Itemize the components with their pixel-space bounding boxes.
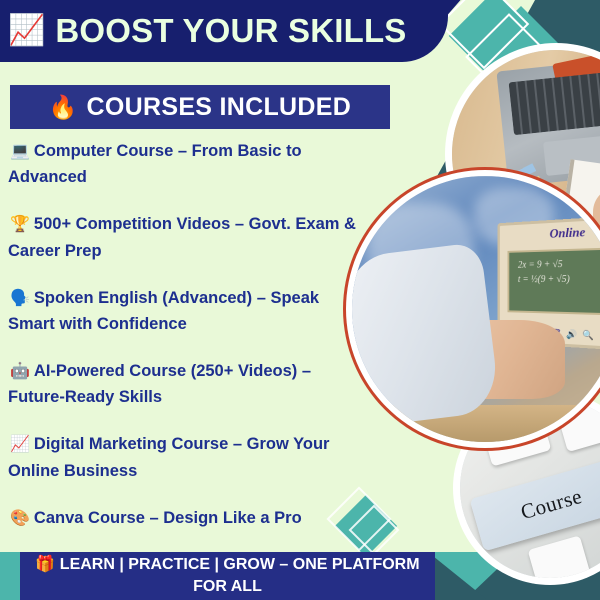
robot-icon: 🤖 — [10, 363, 30, 380]
list-item: 🎨Canva Course – Design Like a Pro — [8, 505, 360, 531]
bottom-tagline-label: LEARN | PRACTICE | GROW – ONE PLATFORM F… — [60, 556, 420, 595]
online-screen-chalkboard: 2x = 9 + √5t = ½(9 + √5) — [508, 246, 600, 316]
search-icon: 🔍 — [583, 329, 594, 341]
page-title: BOOST YOUR SKILLS — [55, 12, 406, 50]
header-banner: 📈 BOOST YOUR SKILLS — [0, 0, 448, 62]
courses-included-label: COURSES INCLUDED — [87, 93, 352, 122]
fire-icon: 🔥 — [49, 96, 78, 119]
list-item: 🤖AI-Powered Course (250+ Videos) – Futur… — [8, 358, 360, 410]
list-item: 🏆500+ Competition Videos – Govt. Exam & … — [8, 211, 360, 263]
list-item-label: Spoken English (Advanced) – Speak Smart … — [8, 289, 319, 333]
list-item-label: Canva Course – Design Like a Pro — [34, 509, 302, 527]
trophy-icon: 🏆 — [10, 216, 30, 233]
bottom-tagline-banner: 🎁 LEARN | PRACTICE | GROW – ONE PLATFORM… — [20, 552, 435, 600]
speaking-head-icon: 🗣️ — [10, 290, 30, 307]
list-item-label: Computer Course – From Basic to Advanced — [8, 142, 302, 186]
courses-included-header: 🔥 COURSES INCLUDED — [10, 85, 390, 129]
chart-increasing-icon: 📈 — [8, 16, 45, 46]
keycap-course-label: Course — [518, 484, 585, 525]
online-class-typing-photo: Online 2x = 9 + √5t = ½(9 + √5) 💬 ✉ 👤 🗑 … — [352, 176, 600, 442]
list-item: 📈Digital Marketing Course – Grow Your On… — [8, 431, 360, 483]
online-screen-title: Online — [500, 220, 600, 243]
online-screen-equations: 2x = 9 + √5t = ½(9 + √5) — [509, 248, 600, 286]
bottom-tagline-text: 🎁 LEARN | PRACTICE | GROW – ONE PLATFORM… — [20, 554, 435, 597]
promo-poster: Course Online 2x = 9 + √5t = ½(9 + √5) 💬… — [0, 0, 600, 600]
chart-increasing-icon: 📈 — [10, 436, 30, 453]
course-list: 💻Computer Course – From Basic to Advance… — [8, 138, 360, 552]
artist-palette-icon: 🎨 — [10, 510, 30, 527]
volume-icon: 🔊 — [567, 329, 578, 341]
list-item-label: AI-Powered Course (250+ Videos) – Future… — [8, 362, 311, 406]
online-white-sleeve — [352, 242, 500, 428]
gift-icon: 🎁 — [35, 556, 55, 573]
desk-laptop-keyboard — [508, 69, 600, 136]
list-item-label: 500+ Competition Videos – Govt. Exam & C… — [8, 215, 356, 259]
laptop-icon: 💻 — [10, 143, 30, 160]
list-item: 💻Computer Course – From Basic to Advance… — [8, 138, 360, 190]
list-item: 🗣️Spoken English (Advanced) – Speak Smar… — [8, 285, 360, 337]
list-item-label: Digital Marketing Course – Grow Your Onl… — [8, 435, 329, 479]
